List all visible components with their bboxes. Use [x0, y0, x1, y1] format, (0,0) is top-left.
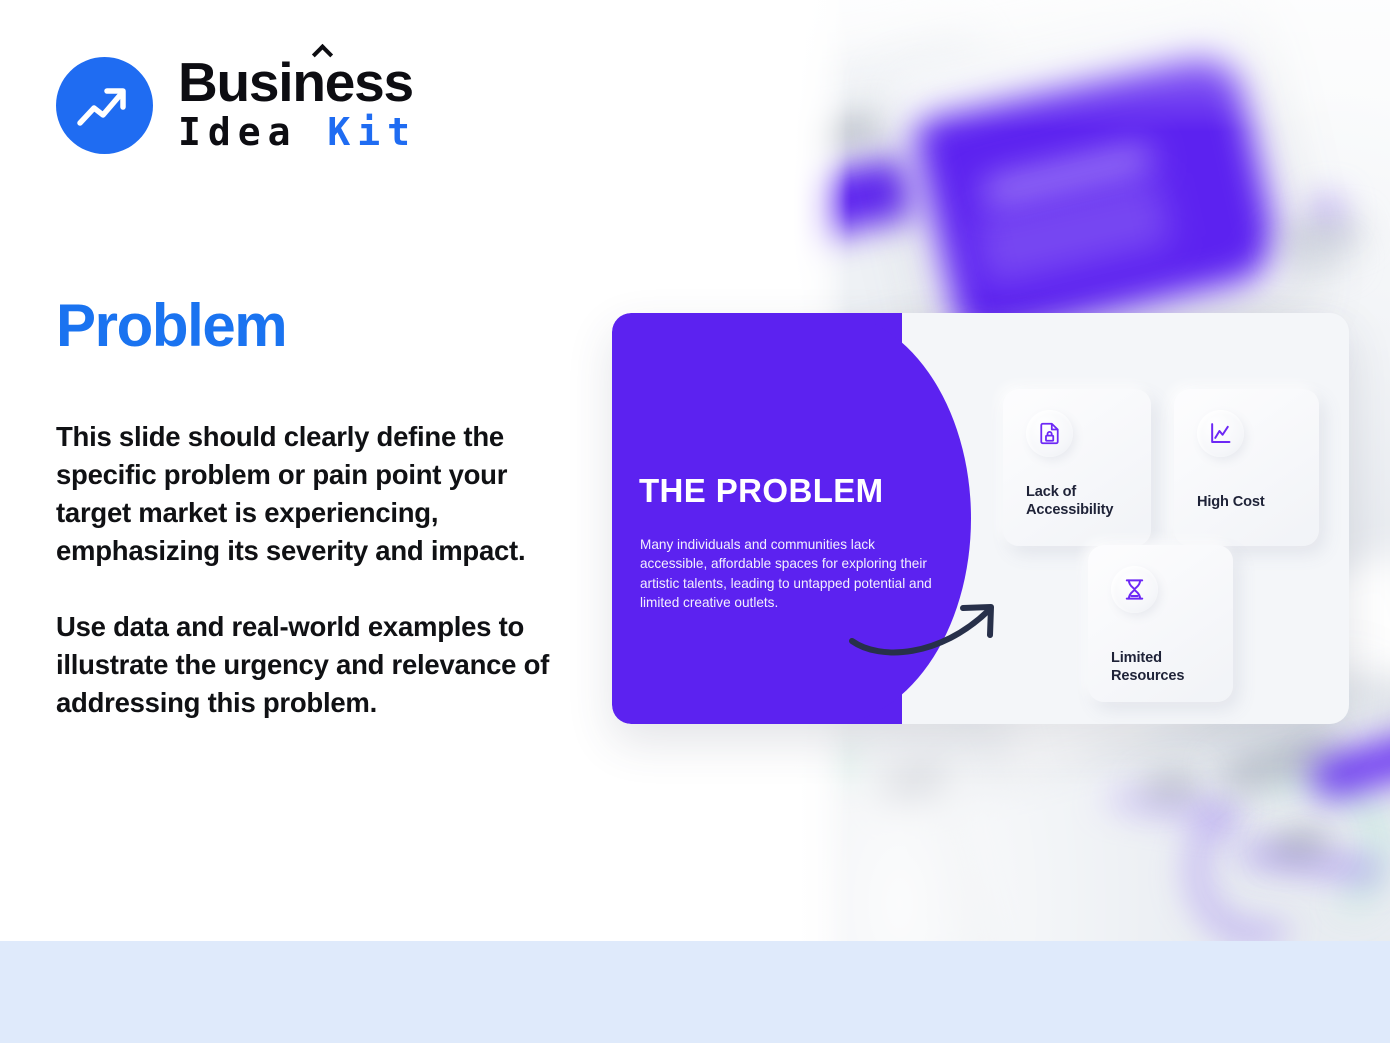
slide-heading: THE PROBLEM [639, 474, 884, 507]
page-description: This slide should clearly define the spe… [56, 418, 576, 722]
problem-tile-high-cost[interactable]: High Cost [1174, 389, 1319, 546]
hourglass-icon [1111, 566, 1158, 613]
problem-tile-accessibility[interactable]: Lack of Accessibility [1003, 389, 1151, 546]
brand-name-kit: Kit [327, 110, 417, 154]
description-paragraph-2: Use data and real-world examples to illu… [56, 608, 576, 722]
page-title: Problem [56, 296, 286, 356]
document-lock-icon [1026, 410, 1073, 457]
problem-tile-limited-resources[interactable]: Limited Resources [1088, 545, 1233, 702]
brand-wordmark: Business Idea Kit [178, 56, 417, 156]
brand-name-idea: Idea [178, 110, 298, 154]
curved-arrow-icon [848, 595, 1018, 665]
problem-tile-label: High Cost [1197, 493, 1265, 511]
description-paragraph-1: This slide should clearly define the spe… [56, 418, 576, 570]
problem-tile-label: Lack of Accessibility [1026, 483, 1151, 520]
line-chart-icon [1197, 410, 1244, 457]
brand-name-line1-text: Business [178, 51, 413, 113]
slide-page: Business Idea Kit Problem This slide sho… [0, 0, 1390, 1043]
slide-preview-card[interactable]: THE PROBLEM Many individuals and communi… [612, 313, 1349, 724]
footer-band [0, 941, 1390, 1043]
brand-name-line2: Idea Kit [178, 110, 417, 156]
brand-logo: Business Idea Kit [56, 56, 417, 156]
growth-arrow-chart-icon [56, 57, 153, 154]
problem-tile-label: Limited Resources [1111, 649, 1233, 686]
brand-name-line1: Business [178, 56, 413, 108]
